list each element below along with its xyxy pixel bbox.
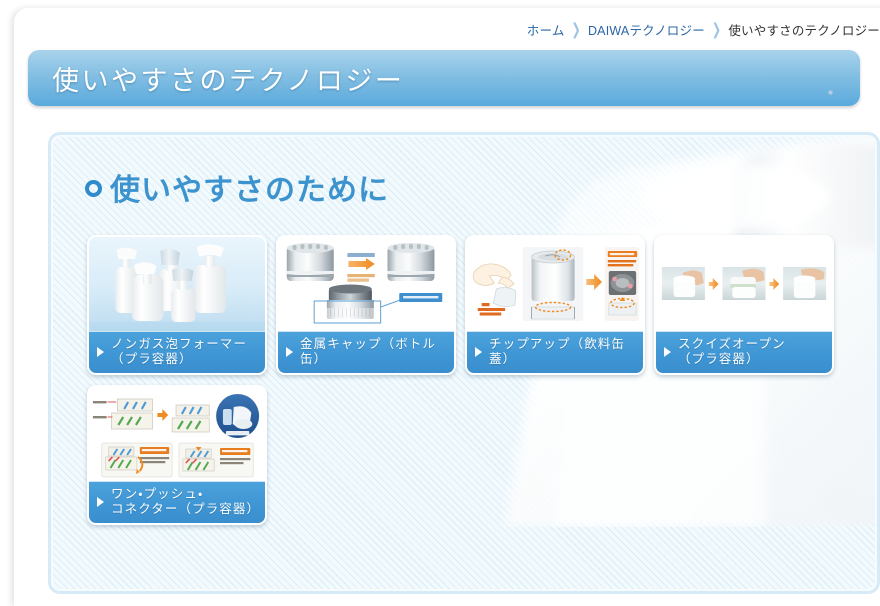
thumbnail-squeeze-open-photos xyxy=(656,237,832,331)
card-label-text: 金属キャップ（ボトル缶） xyxy=(300,337,446,367)
triangle-right-icon xyxy=(475,347,482,357)
page-container: ホーム ❯ DAIWAテクノロジー ❯ 使いやすさのテクノロジー 使いやすさのテ… xyxy=(14,8,880,606)
thumbnail-metal-cap-diagram xyxy=(278,237,454,331)
breadcrumb-item-current: 使いやすさのテクノロジー xyxy=(728,20,880,39)
section-heading-text: 使いやすさのために xyxy=(110,165,389,209)
card-label-text: スクイズオープン （プラ容器） xyxy=(678,337,786,367)
triangle-right-icon xyxy=(664,347,671,357)
triangle-right-icon xyxy=(97,347,104,357)
page-title: 使いやすさのテクノロジー xyxy=(28,59,404,98)
content-panel: 使いやすさのために xyxy=(48,132,880,594)
content-panel-inner: 使いやすさのために xyxy=(53,137,875,589)
chevron-right-icon: ❯ xyxy=(572,20,581,39)
thumbnail-one-push-connector-diagram xyxy=(89,387,265,481)
breadcrumb-item-daiwa-technology[interactable]: DAIWAテクノロジー xyxy=(588,20,705,39)
triangle-right-icon xyxy=(97,497,104,507)
technology-card-grid: ノンガス泡フォーマー （プラ容器） xyxy=(87,235,855,525)
triangle-right-icon xyxy=(286,347,293,357)
card-chip-up[interactable]: チップアップ（飲料缶蓋） xyxy=(465,235,645,375)
card-metal-cap[interactable]: 金属キャップ（ボトル缶） xyxy=(276,235,456,375)
card-label-chip-up: チップアップ（飲料缶蓋） xyxy=(467,331,643,373)
card-label-metal-cap: 金属キャップ（ボトル缶） xyxy=(278,331,454,373)
thumbnail-can-tab-open-diagram xyxy=(467,237,643,331)
ring-bullet-icon xyxy=(85,180,102,197)
card-label-text: ノンガス泡フォーマー （プラ容器） xyxy=(111,337,247,367)
card-label-one-push-connector: ワン・プッシュ・ コネクター（プラ容器） xyxy=(89,481,265,523)
card-label-text: ワン・プッシュ・ コネクター（プラ容器） xyxy=(111,487,257,517)
card-squeeze-open[interactable]: スクイズオープン （プラ容器） xyxy=(654,235,834,375)
card-label-text: チップアップ（飲料缶蓋） xyxy=(489,337,635,367)
card-non-gas-foamer[interactable]: ノンガス泡フォーマー （プラ容器） xyxy=(87,235,267,375)
card-label-squeeze-open: スクイズオープン （プラ容器） xyxy=(656,331,832,373)
breadcrumb-item-home[interactable]: ホーム xyxy=(527,20,565,39)
section-heading: 使いやすさのために xyxy=(85,165,389,209)
card-label-non-gas-foamer: ノンガス泡フォーマー （プラ容器） xyxy=(89,331,265,373)
page-title-banner: 使いやすさのテクノロジー xyxy=(28,50,860,106)
card-one-push-connector[interactable]: ワン・プッシュ・ コネクター（プラ容器） xyxy=(87,385,267,525)
breadcrumb: ホーム ❯ DAIWAテクノロジー ❯ 使いやすさのテクノロジー xyxy=(527,18,880,40)
banner-dot-icon xyxy=(828,90,833,95)
chevron-right-icon: ❯ xyxy=(712,20,721,39)
thumbnail-foam-pump-bottles xyxy=(89,237,265,331)
